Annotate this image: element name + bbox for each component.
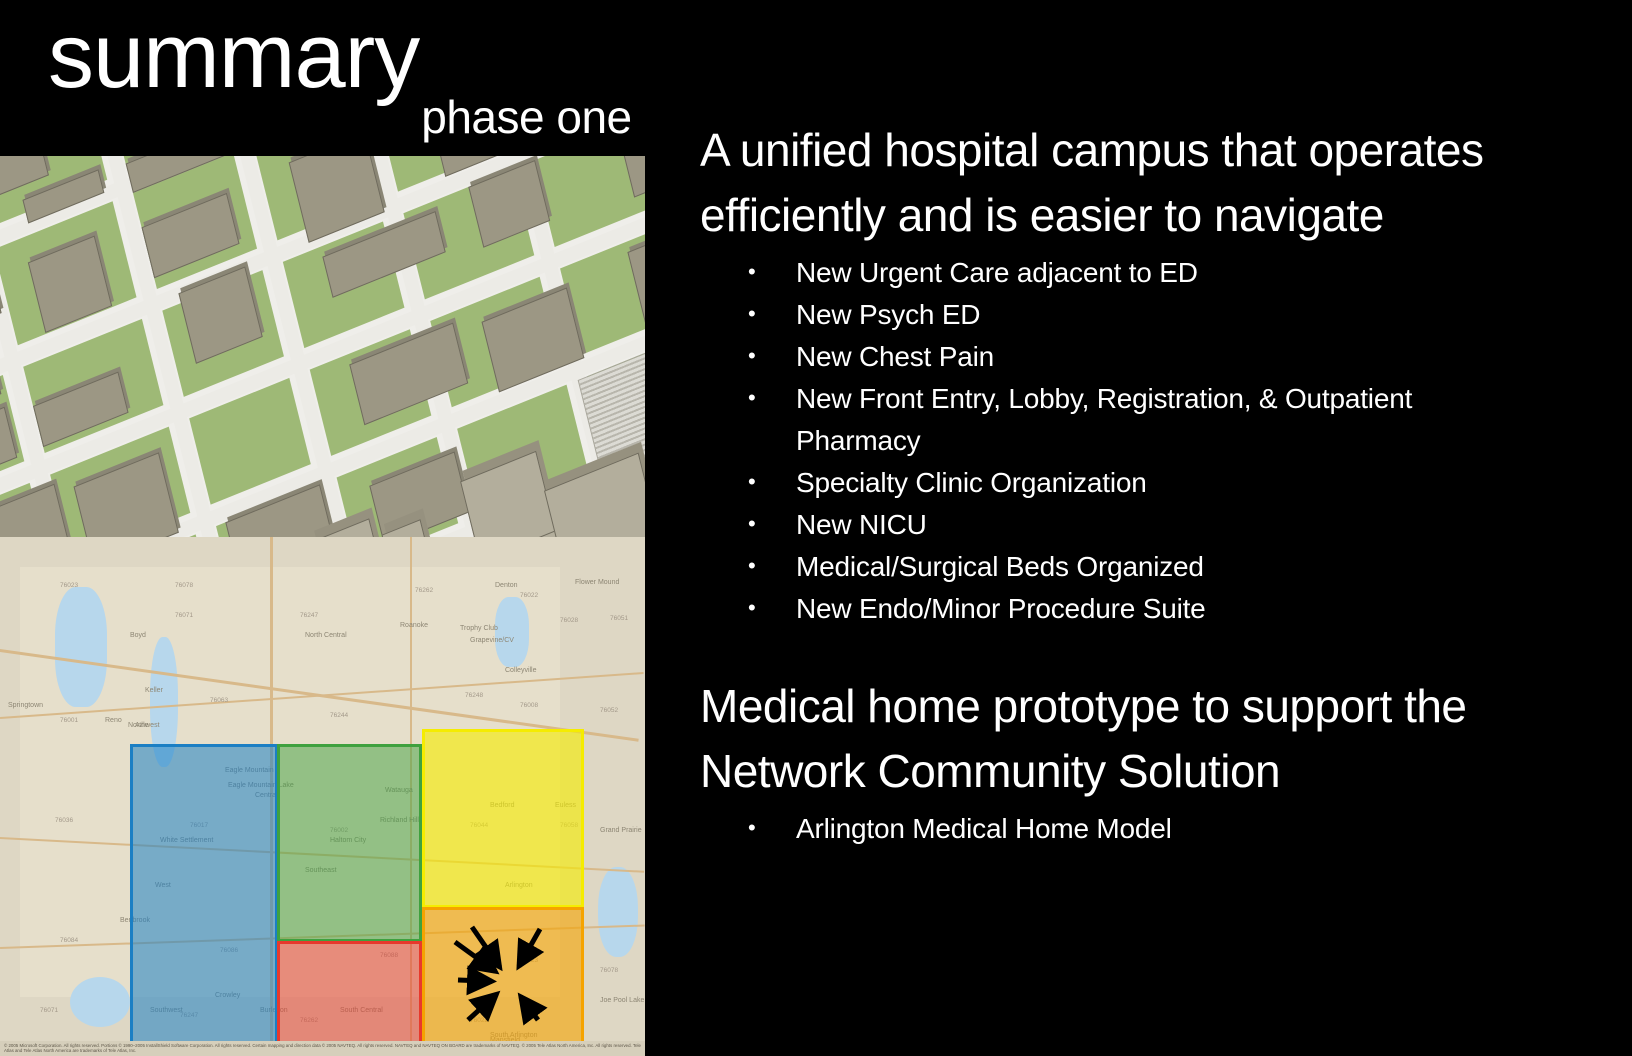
section-1-bullet-list: New Urgent Care adjacent to EDNew Psych … (700, 252, 1500, 630)
presentation-slide: summary phase one 7602376078760717624776… (0, 0, 1632, 1056)
list-item: New NICU (700, 504, 1500, 546)
page-title: summary (48, 10, 419, 102)
zone-overlay-west (130, 744, 278, 1056)
right-text-column: A unified hospital campus that operates … (700, 118, 1500, 850)
list-item: New Front Entry, Lobby, Registration, & … (700, 378, 1500, 462)
list-item: Medical/Surgical Beds Organized (700, 546, 1500, 588)
section-1-heading: A unified hospital campus that operates … (700, 118, 1500, 248)
zone-overlay-northeast (422, 729, 584, 908)
section-2-bullet-list: Arlington Medical Home Model (700, 808, 1500, 850)
list-item: New Chest Pain (700, 336, 1500, 378)
left-image-column: 7602376078760717624776262760227602876051… (0, 156, 645, 1056)
section-2-heading: Medical home prototype to support the Ne… (700, 674, 1500, 804)
list-item: New Urgent Care adjacent to ED (700, 252, 1500, 294)
list-item: New Endo/Minor Procedure Suite (700, 588, 1500, 630)
page-subtitle: phase one (421, 94, 631, 140)
map-copyright-notice: © 2005 Microsoft Corporation. All rights… (0, 1041, 645, 1056)
region-service-area-map: 7602376078760717624776262760227602876051… (0, 537, 645, 1056)
list-item: Specialty Clinic Organization (700, 462, 1500, 504)
list-item: Arlington Medical Home Model (700, 808, 1500, 850)
zone-overlay-north (277, 744, 422, 942)
zone-overlay-arlington (422, 907, 584, 1056)
zone-overlay-south (277, 941, 422, 1056)
slide-title-block: summary phase one (48, 10, 632, 102)
list-item: New Psych ED (700, 294, 1500, 336)
campus-model-canvas (0, 156, 645, 537)
campus-3d-model-image (0, 156, 645, 537)
